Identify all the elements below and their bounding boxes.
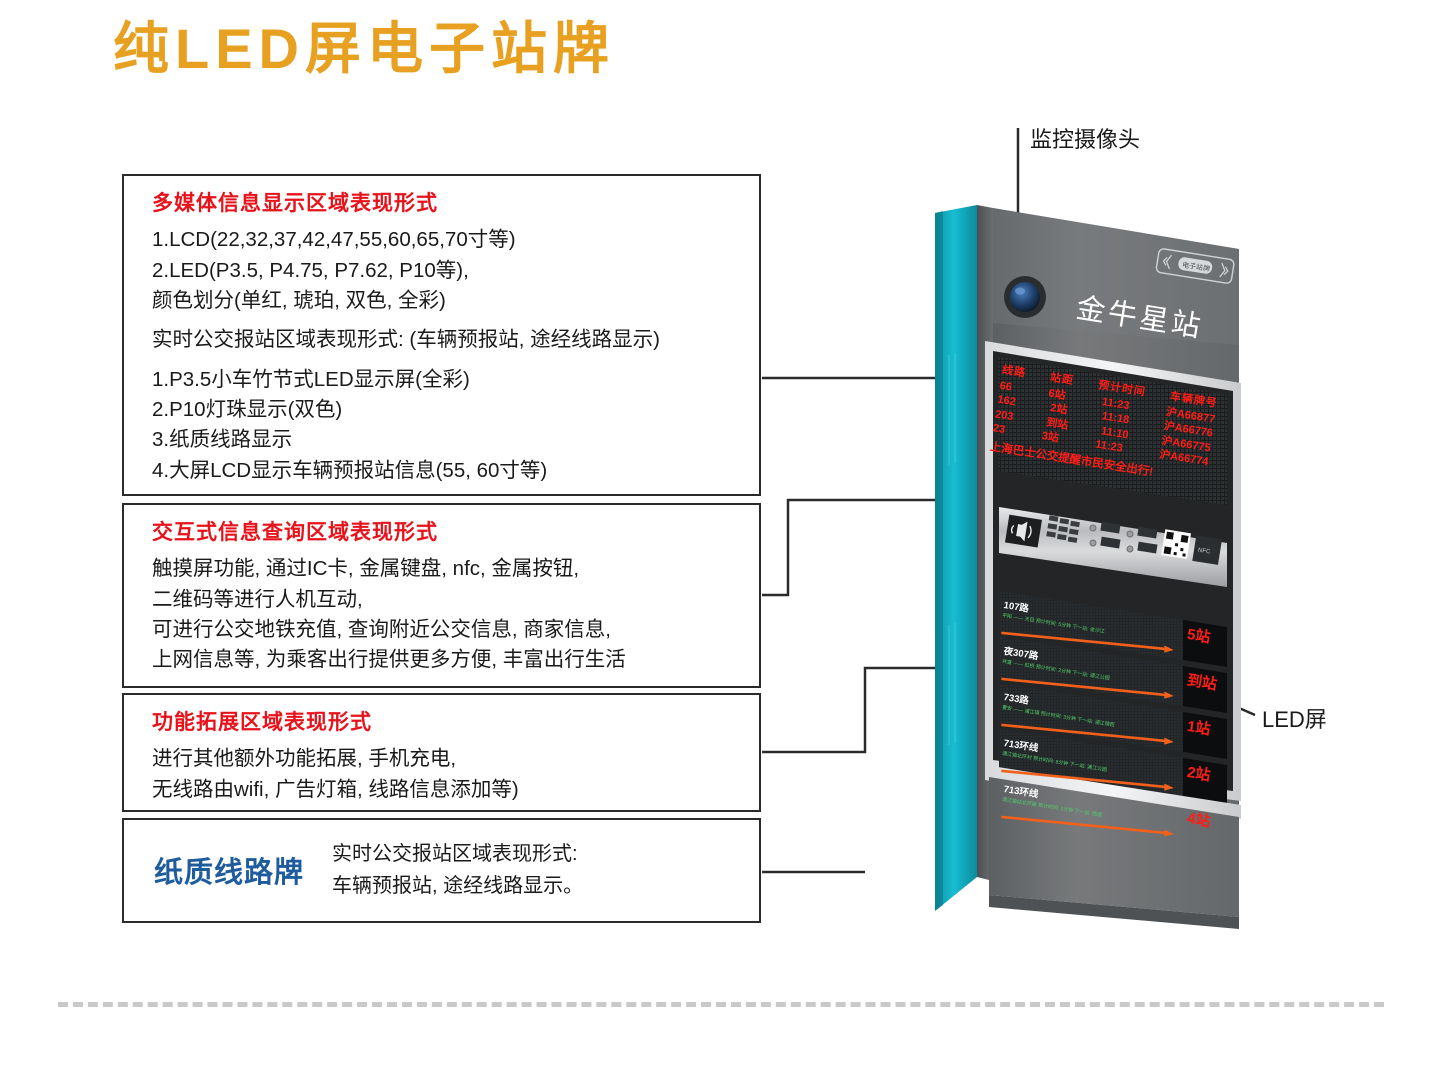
interactive-line-4: 上网信息等, 为乘客出行提供更多方便, 丰富出行生活 xyxy=(152,645,737,675)
multimedia-line-7: 3.纸质线路显示 xyxy=(152,425,737,455)
multimedia-line-6: 2.P10灯珠显示(双色) xyxy=(152,395,737,425)
interactive-line-3: 可进行公交地铁充值, 查询附近公交信息, 商家信息, xyxy=(152,615,737,645)
multimedia-line-8: 4.大屏LCD显示车辆预报站信息(55, 60寸等) xyxy=(152,456,737,486)
multimedia-line-5: 1.P3.5小车竹节式LED显示屏(全彩) xyxy=(152,365,737,395)
info-box-multimedia: 多媒体信息显示区域表现形式 1.LCD(22,32,37,42,47,55,60… xyxy=(122,174,761,496)
sign-side-panel-shadow xyxy=(935,211,943,911)
paper-line-2: 车辆预报站, 途经线路显示。 xyxy=(332,870,583,902)
multimedia-line-1: 1.LCD(22,32,37,42,47,55,60,65,70寸等) xyxy=(152,225,737,255)
bottom-dashed-divider xyxy=(58,1002,1384,1007)
interactive-heading: 交互式信息查询区域表现形式 xyxy=(152,519,737,546)
multimedia-line-2: 2.LED(P3.5, P4.75, P7.62, P10等), xyxy=(152,256,737,286)
paper-route-sign-text: 实时公交报站区域表现形式: 车辆预报站, 途经线路显示。 xyxy=(332,838,583,902)
nfc-pad[interactable]: NFC xyxy=(1192,535,1222,565)
bus-stop-sign-illustration: 金牛星站 电子站牌 xyxy=(925,205,1265,935)
multimedia-heading: 多媒体信息显示区域表现形式 xyxy=(152,190,737,217)
multimedia-line-3: 颜色划分(单红, 琥珀, 双色, 全彩) xyxy=(152,286,737,316)
interactive-line-2: 二维码等进行人机互动, xyxy=(152,585,737,615)
function-line-2: 无线路由wifi, 广告灯箱, 线路信息添加等) xyxy=(152,775,737,805)
paper-route-sign-title: 纸质线路牌 xyxy=(154,849,304,891)
function-heading: 功能拓展区域表现形式 xyxy=(152,709,737,736)
callout-led-screen-label: LED屏 xyxy=(1262,702,1327,734)
info-box-function: 功能拓展区域表现形式 进行其他额外功能拓展, 手机充电, 无线路由wifi, 广… xyxy=(122,693,761,812)
callout-camera-label: 监控摄像头 xyxy=(1030,122,1140,154)
info-box-interactive: 交互式信息查询区域表现形式 触摸屏功能, 通过IC卡, 金属键盘, nfc, 金… xyxy=(122,503,761,688)
camera-module xyxy=(1004,276,1046,318)
info-box-paper-route-sign: 纸质线路牌 实时公交报站区域表现形式: 车辆预报站, 途经线路显示。 xyxy=(122,818,761,923)
qr-code-icon[interactable] xyxy=(1161,529,1191,559)
paper-line-1: 实时公交报站区域表现形式: xyxy=(332,838,583,870)
interactive-line-1: 触摸屏功能, 通过IC卡, 金属键盘, nfc, 金属按钮, xyxy=(152,554,737,584)
page-title: 纯LED屏电子站牌 xyxy=(113,18,615,80)
multimedia-line-4: 实时公交报站区域表现形式: (车辆预报站, 途经线路显示) xyxy=(152,325,737,355)
function-line-1: 进行其他额外功能拓展, 手机充电, xyxy=(152,744,737,774)
